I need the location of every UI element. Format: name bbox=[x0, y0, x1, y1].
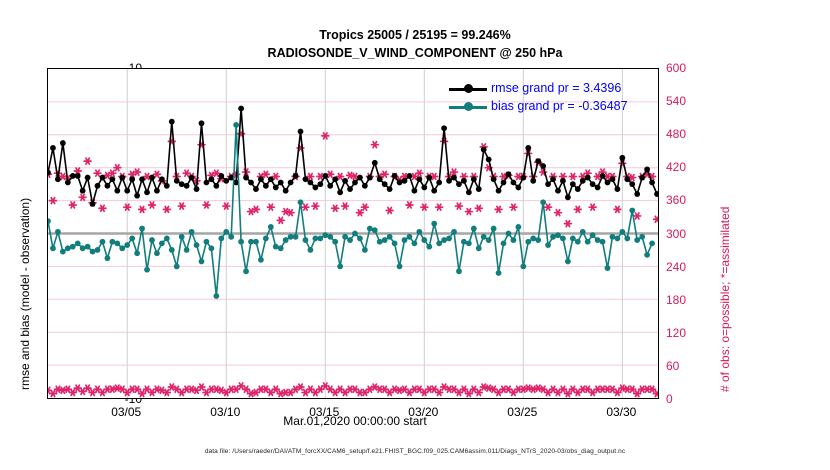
legend-label: bias grand pr = -0.36487 bbox=[491, 98, 628, 115]
y-tick-right-3: 180 bbox=[666, 294, 712, 306]
y-tick-right-2: 120 bbox=[666, 327, 712, 339]
obs-count-markers-1 bbox=[48, 383, 658, 397]
data-file-caption: data file: /Users/raeder/DAI/ATM_forcXX/… bbox=[0, 448, 830, 455]
chart-svg bbox=[48, 69, 658, 398]
y-axis-right-label: # of obs: o=possible; *=assimilated bbox=[718, 207, 732, 392]
x-tick-1: 03/10 bbox=[195, 406, 255, 418]
figure-canvas: Tropics 25005 / 25195 = 99.246% RADIOSON… bbox=[0, 0, 830, 470]
y-axis-left-label: rmse and bias (model - observation) bbox=[18, 198, 32, 390]
y-tick-right-7: 420 bbox=[666, 161, 712, 173]
y-tick-right-1: 60 bbox=[666, 360, 712, 372]
legend-marker-icon bbox=[464, 84, 473, 93]
legend-marker-icon bbox=[464, 102, 473, 111]
y-tick-right-10: 600 bbox=[666, 62, 712, 74]
chart-title-line2: RADIOSONDE_V_WIND_COMPONENT @ 250 hPa bbox=[115, 46, 715, 60]
y-tick-right-0: 0 bbox=[666, 393, 712, 405]
x-tick-3: 03/20 bbox=[393, 406, 453, 418]
x-tick-2: 03/15 bbox=[294, 406, 354, 418]
y-tick-right-8: 480 bbox=[666, 128, 712, 140]
y-tick-right-4: 240 bbox=[666, 261, 712, 273]
y-tick-right-6: 360 bbox=[666, 194, 712, 206]
chart-title-line1: Tropics 25005 / 25195 = 99.246% bbox=[115, 28, 715, 42]
series-markers-1 bbox=[48, 122, 655, 299]
plot-area[interactable] bbox=[47, 68, 659, 399]
y-tick-right-9: 540 bbox=[666, 95, 712, 107]
legend-label: rmse grand pr = 3.4396 bbox=[491, 80, 621, 97]
y-tick-right-5: 300 bbox=[666, 228, 712, 240]
legend-entry-0[interactable]: rmse grand pr = 3.4396 bbox=[449, 80, 654, 98]
x-tick-0: 03/05 bbox=[96, 406, 156, 418]
chart-legend[interactable]: rmse grand pr = 3.4396bias grand pr = -0… bbox=[449, 80, 654, 116]
legend-entry-1[interactable]: bias grand pr = -0.36487 bbox=[449, 98, 654, 116]
x-tick-5: 03/30 bbox=[591, 406, 651, 418]
x-tick-4: 03/25 bbox=[492, 406, 552, 418]
